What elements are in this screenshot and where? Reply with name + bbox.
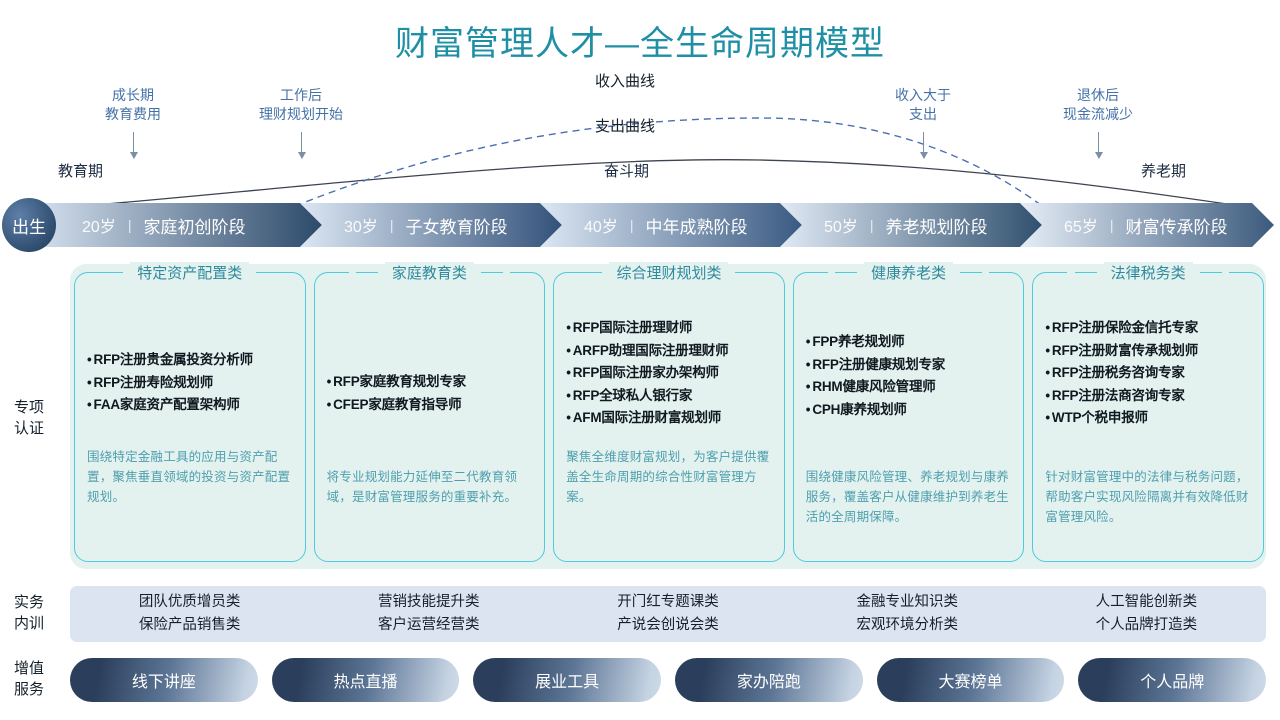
annotation-line1: 退休后 <box>1077 87 1119 103</box>
value-service-pill[interactable]: 大赛榜单 <box>877 658 1065 702</box>
timeline-segment-1[interactable]: 20岁 | 家庭初创阶段 <box>60 203 322 247</box>
segment-age: 50岁 <box>824 213 858 237</box>
timeline-segment-4[interactable]: 50岁 | 养老规划阶段 <box>802 203 1042 247</box>
row-label-line2: 内训 <box>14 615 44 632</box>
row-label-line1: 实务 <box>14 594 44 611</box>
timeline-segment-2[interactable]: 30岁 | 子女教育阶段 <box>322 203 562 247</box>
list-item: AFM国际注册财富规划师 <box>566 407 772 430</box>
list-item: RFP国际注册家办架构师 <box>566 362 772 385</box>
row-label-certification: 专项 认证 <box>14 397 44 439</box>
list-item: RFP注册财富传承规划师 <box>1045 340 1251 363</box>
annotation-arrow-1 <box>133 132 134 158</box>
card-description: 针对财富管理中的法律与税务问题，帮助客户实现风险隔离并有效降低财富管理风险。 <box>1045 467 1251 527</box>
list-item: RFP注册保险金信托专家 <box>1045 317 1251 340</box>
timeline-birth-badge[interactable]: 出生 <box>2 198 56 252</box>
expense-curve <box>60 160 1255 208</box>
segment-separator: | <box>630 217 634 233</box>
training-column: 金融专业知识类 宏观环境分析类 <box>788 586 1027 642</box>
annotation-retirement-cashflow: 退休后 现金流减少 <box>1034 86 1162 124</box>
card-description: 围绕健康风险管理、养老规划与康养服务，覆盖客户从健康维护到养老生活的全周期保障。 <box>806 467 1012 527</box>
training-column: 营销技能提升类 客户运营经营类 <box>309 586 548 642</box>
annotation-line2: 教育费用 <box>78 105 188 124</box>
annotation-line2: 支出 <box>868 105 978 124</box>
annotation-line2: 现金流减少 <box>1034 105 1162 124</box>
certification-list: RFP国际注册理财师 ARFP助理国际注册理财师 RFP国际注册家办架构师 RF… <box>566 317 772 430</box>
list-item: RFP注册法商咨询专家 <box>1045 385 1251 408</box>
annotation-planning-start: 工作后 理财规划开始 <box>237 86 365 124</box>
timeline-segment-5[interactable]: 65岁 | 财富传承阶段 <box>1042 203 1280 247</box>
segment-age: 65岁 <box>1064 213 1098 237</box>
segment-age: 40岁 <box>584 213 618 237</box>
value-service-pill[interactable]: 家办陪跑 <box>675 658 863 702</box>
value-service-row: 线下讲座 热点直播 展业工具 家办陪跑 大赛榜单 个人品牌 <box>70 658 1266 702</box>
period-label-struggle: 奋斗期 <box>604 160 649 181</box>
list-item: RFP家庭教育规划专家 <box>327 371 533 394</box>
training-line1: 营销技能提升类 <box>378 591 480 614</box>
segment-name: 财富传承阶段 <box>1125 213 1227 238</box>
page-title: 财富管理人才—全生命周期模型 <box>0 16 1280 65</box>
list-item: ARFP助理国际注册理财师 <box>566 340 772 363</box>
segment-name: 家庭初创阶段 <box>143 213 245 238</box>
annotation-line1: 工作后 <box>280 87 322 103</box>
value-service-pill[interactable]: 线下讲座 <box>70 658 258 702</box>
value-service-pill[interactable]: 热点直播 <box>272 658 460 702</box>
list-item: WTP个税申报师 <box>1045 407 1251 430</box>
training-column: 开门红专题课类 产说会创说会类 <box>548 586 787 642</box>
segment-name: 中年成熟阶段 <box>645 213 747 238</box>
list-item: RHM健康风险管理师 <box>806 376 1012 399</box>
list-item: RFP注册贵金属投资分析师 <box>87 349 293 372</box>
card-description: 围绕特定金融工具的应用与资产配置，聚焦垂直领域的投资与资产配置规划。 <box>87 447 293 507</box>
value-service-pill[interactable]: 个人品牌 <box>1078 658 1266 702</box>
annotation-line1: 成长期 <box>112 87 154 103</box>
income-curve-label: 收入曲线 <box>595 70 655 91</box>
certification-card[interactable]: 家庭教育类 RFP家庭教育规划专家 CFEP家庭教育指导师 将专业规划能力延伸至… <box>314 272 546 562</box>
annotation-line2: 理财规划开始 <box>237 105 365 124</box>
certification-list: RFP注册保险金信托专家 RFP注册财富传承规划师 RFP注册税务咨询专家 RF… <box>1045 317 1251 430</box>
list-item: FPP养老规划师 <box>806 331 1012 354</box>
segment-name: 子女教育阶段 <box>405 213 507 238</box>
expense-curve-label: 支出曲线 <box>595 115 655 136</box>
segment-age: 30岁 <box>344 213 378 237</box>
list-item: CFEP家庭教育指导师 <box>327 394 533 417</box>
infographic-root: 财富管理人才—全生命周期模型 收入曲线 支出曲线 教育期 奋斗期 养老期 成长期… <box>0 0 1280 720</box>
list-item: RFP全球私人银行家 <box>566 385 772 408</box>
list-item: FAA家庭资产配置架构师 <box>87 394 293 417</box>
row-label-line1: 专项 <box>14 399 44 416</box>
training-line1: 金融专业知识类 <box>856 591 958 614</box>
certification-card[interactable]: 法律税务类 RFP注册保险金信托专家 RFP注册财富传承规划师 RFP注册税务咨… <box>1032 272 1264 562</box>
list-item: RFP注册寿险规划师 <box>87 372 293 395</box>
row-label-line1: 增值 <box>14 660 44 677</box>
segment-separator: | <box>128 217 132 233</box>
list-item: RFP国际注册理财师 <box>566 317 772 340</box>
segment-age: 20岁 <box>82 213 116 237</box>
training-line2: 客户运营经营类 <box>378 614 480 637</box>
training-line2: 宏观环境分析类 <box>856 614 958 637</box>
annotation-arrow-4 <box>1098 132 1099 158</box>
certification-card[interactable]: 特定资产配置类 RFP注册贵金属投资分析师 RFP注册寿险规划师 FAA家庭资产… <box>74 272 306 562</box>
annotation-arrow-3 <box>923 132 924 158</box>
annotation-arrow-2 <box>301 132 302 158</box>
row-label-training: 实务 内训 <box>14 592 44 634</box>
period-label-education: 教育期 <box>58 160 103 181</box>
annotation-growth-education: 成长期 教育费用 <box>78 86 188 124</box>
segment-separator: | <box>390 217 394 233</box>
card-description: 聚焦全维度财富规划，为客户提供覆盖全生命周期的综合性财富管理方案。 <box>566 447 772 507</box>
annotation-line1: 收入大于 <box>895 87 951 103</box>
practical-training-band: 团队优质增员类 保险产品销售类 营销技能提升类 客户运营经营类 开门红专题课类 … <box>70 586 1266 642</box>
value-service-pill[interactable]: 展业工具 <box>473 658 661 702</box>
card-description: 将专业规划能力延伸至二代教育领域，是财富管理服务的重要补充。 <box>327 467 533 507</box>
segment-name: 养老规划阶段 <box>885 213 987 238</box>
certification-card-list: 特定资产配置类 RFP注册贵金属投资分析师 RFP注册寿险规划师 FAA家庭资产… <box>74 272 1264 562</box>
lifecycle-timeline: 出生 20岁 | 家庭初创阶段 30岁 | 子女教育阶段 40岁 | 中年成熟阶… <box>0 203 1280 247</box>
row-label-line2: 服务 <box>14 681 44 698</box>
certification-card[interactable]: 综合理财规划类 RFP国际注册理财师 ARFP助理国际注册理财师 RFP国际注册… <box>553 272 785 562</box>
row-label-value-service: 增值 服务 <box>14 658 44 700</box>
period-label-retirement: 养老期 <box>1141 160 1186 181</box>
segment-separator: | <box>1110 217 1114 233</box>
training-line2: 产说会创说会类 <box>617 614 719 637</box>
list-item: RFP注册税务咨询专家 <box>1045 362 1251 385</box>
certification-list: FPP养老规划师 RFP注册健康规划专家 RHM健康风险管理师 CPH康养规划师 <box>806 331 1012 421</box>
training-line1: 团队优质增员类 <box>139 591 241 614</box>
list-item: RFP注册健康规划专家 <box>806 354 1012 377</box>
lifecycle-curve-area: 收入曲线 支出曲线 教育期 奋斗期 养老期 成长期 教育费用 工作后 理财规划开… <box>0 60 1280 220</box>
certification-list: RFP家庭教育规划专家 CFEP家庭教育指导师 <box>327 371 533 416</box>
certification-card[interactable]: 健康养老类 FPP养老规划师 RFP注册健康规划专家 RHM健康风险管理师 CP… <box>793 272 1025 562</box>
training-column: 人工智能创新类 个人品牌打造类 <box>1027 586 1266 642</box>
certification-list: RFP注册贵金属投资分析师 RFP注册寿险规划师 FAA家庭资产配置架构师 <box>87 349 293 417</box>
training-line1: 人工智能创新类 <box>1096 591 1198 614</box>
training-line1: 开门红专题课类 <box>617 591 719 614</box>
timeline-segment-3[interactable]: 40岁 | 中年成熟阶段 <box>562 203 802 247</box>
row-label-line2: 认证 <box>14 420 44 437</box>
training-line2: 保险产品销售类 <box>139 614 241 637</box>
training-column: 团队优质增员类 保险产品销售类 <box>70 586 309 642</box>
training-line2: 个人品牌打造类 <box>1096 614 1198 637</box>
list-item: CPH康养规划师 <box>806 399 1012 422</box>
segment-separator: | <box>870 217 874 233</box>
annotation-income-exceeds-expense: 收入大于 支出 <box>868 86 978 124</box>
